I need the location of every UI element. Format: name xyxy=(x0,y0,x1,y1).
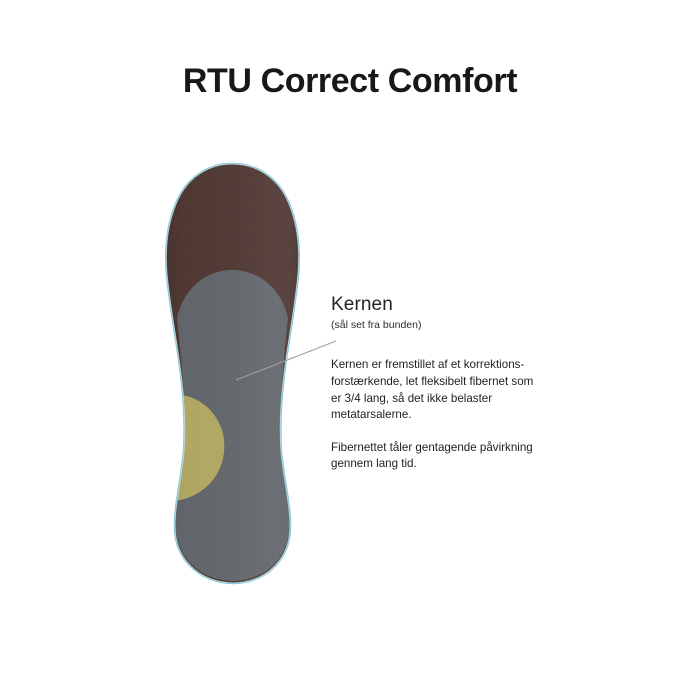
page-title: RTU Correct Comfort xyxy=(0,62,700,101)
insole-illustration xyxy=(148,162,318,586)
product-figure: RTU Correct Comfort xyxy=(0,0,700,700)
insole-svg xyxy=(148,162,318,586)
callout-paragraph-1: Kernen er fremstillet af et korrektions-… xyxy=(331,357,543,423)
callout-block: Kernen (sål set fra bunden) Kernen er fr… xyxy=(331,294,543,473)
callout-heading: Kernen xyxy=(331,294,543,316)
callout-paragraph-2: Fibernettet tåler gentagende påvirkning … xyxy=(331,440,543,473)
callout-subheading: (sål set fra bunden) xyxy=(331,319,543,332)
